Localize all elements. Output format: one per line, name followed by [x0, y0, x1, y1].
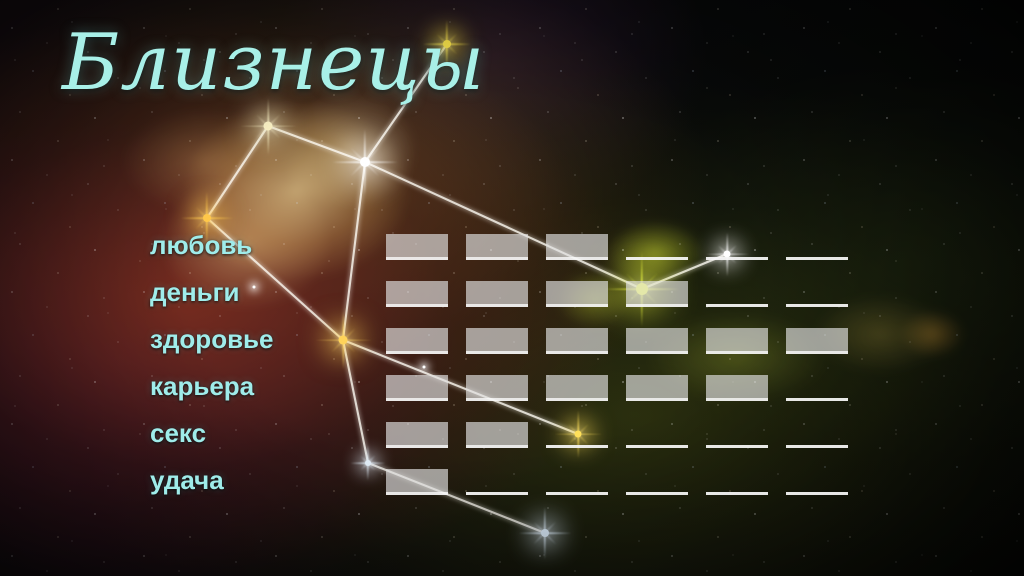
star-spike — [181, 217, 234, 219]
star-spike — [533, 521, 557, 545]
rating-cell-empty — [546, 469, 608, 492]
constellation-line — [207, 126, 268, 218]
star-spike — [332, 161, 398, 163]
star-spike — [350, 147, 379, 176]
horoscope-slide: Близнецы любовьденьгиздоровьекарьерасекс… — [0, 0, 1024, 576]
rating-label-карьера: карьера — [150, 369, 376, 403]
star-spike — [544, 507, 546, 560]
rating-cell-empty — [706, 469, 768, 492]
star-mid-left-icon — [203, 214, 211, 222]
rating-meter — [386, 422, 848, 445]
rating-meter — [386, 281, 848, 304]
rating-meter — [386, 234, 848, 257]
rating-label-секс: секс — [150, 416, 376, 450]
rating-cell-empty — [786, 375, 848, 398]
star-spike — [255, 113, 280, 138]
star-spike — [255, 113, 280, 138]
star-spike — [239, 125, 296, 127]
rating-cell-filled — [546, 375, 608, 398]
star-spike — [519, 532, 572, 534]
rating-cell-filled — [466, 328, 528, 351]
rating-meter — [386, 328, 848, 351]
star-spike — [195, 206, 219, 230]
rating-cell-filled — [626, 281, 688, 304]
rating-cell-empty — [706, 281, 768, 304]
rating-meter — [386, 469, 848, 492]
rating-cell-empty — [786, 234, 848, 257]
star-spike — [195, 206, 219, 230]
rating-cell-filled — [386, 234, 448, 257]
rating-cell-filled — [786, 328, 848, 351]
rating-cell-filled — [466, 375, 528, 398]
star-castor-icon — [264, 122, 273, 131]
rating-cell-filled — [386, 375, 448, 398]
star-spike — [364, 129, 366, 195]
rating-cell-filled — [626, 375, 688, 398]
rating-cell-filled — [386, 422, 448, 445]
rating-cell-filled — [386, 281, 448, 304]
rating-cell-empty — [706, 234, 768, 257]
rating-cell-filled — [626, 328, 688, 351]
rating-cell-empty — [706, 422, 768, 445]
rating-cell-empty — [786, 469, 848, 492]
rating-cell-empty — [786, 422, 848, 445]
rating-meter — [386, 375, 848, 398]
rating-cell-filled — [546, 281, 608, 304]
rating-cell-filled — [706, 328, 768, 351]
rating-label-деньги: деньги — [150, 275, 376, 309]
constellation-line — [365, 162, 642, 289]
rating-cell-empty — [626, 469, 688, 492]
rating-cell-filled — [386, 469, 448, 492]
rating-cell-filled — [466, 234, 528, 257]
rating-cell-empty — [466, 469, 528, 492]
rating-label-любовь: любовь — [150, 228, 376, 262]
star-small-a-icon — [423, 366, 426, 369]
rating-cell-filled — [466, 281, 528, 304]
rating-cell-empty — [546, 422, 608, 445]
star-bottom-bright-icon — [541, 529, 549, 537]
rating-cell-filled — [706, 375, 768, 398]
rating-cell-filled — [546, 328, 608, 351]
star-pollux-icon — [360, 157, 370, 167]
rating-cell-empty — [626, 234, 688, 257]
star-spike — [350, 147, 379, 176]
rating-cell-empty — [626, 422, 688, 445]
rating-cell-filled — [546, 234, 608, 257]
page-title: Близнецы — [62, 24, 485, 102]
rating-label-здоровье: здоровье — [150, 322, 376, 356]
rating-cell-filled — [466, 422, 528, 445]
constellation-line — [268, 126, 365, 162]
rating-cell-empty — [786, 281, 848, 304]
star-spike — [533, 521, 557, 545]
rating-label-удача: удача — [150, 463, 376, 497]
rating-cell-filled — [386, 328, 448, 351]
